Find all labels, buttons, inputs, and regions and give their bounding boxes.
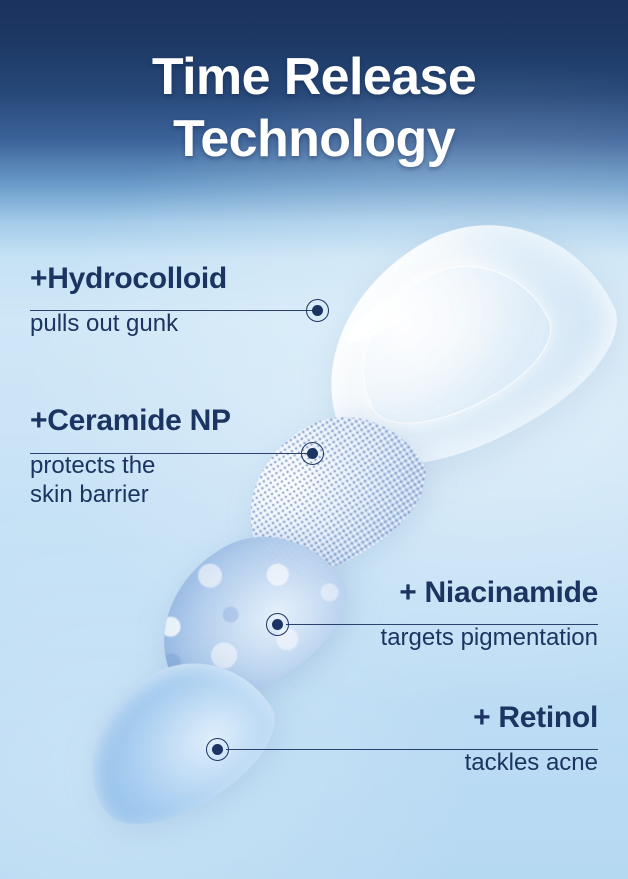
callout-niacinamide-subtitle: targets pigmentation	[298, 623, 598, 652]
callout-retinol-rule	[226, 749, 598, 750]
callout-niacinamide-rule	[286, 624, 598, 625]
callout-ceramide-np-heading: +Ceramide NP	[30, 404, 330, 438]
callout-retinol-marker	[206, 738, 229, 761]
callout-niacinamide: + Niacinamide targets pigmentation	[298, 576, 598, 652]
page-title-line-2: Technology	[0, 108, 628, 170]
callout-niacinamide-marker	[266, 613, 289, 636]
callout-ceramide-np-subtitle-line-1: protects the	[30, 451, 330, 480]
callout-hydrocolloid-subtitle: pulls out gunk	[30, 309, 330, 338]
callout-hydrocolloid-rule	[30, 310, 312, 311]
page-title: Time Release Technology	[0, 46, 628, 170]
callout-ceramide-np-subtitle-line-2: skin barrier	[30, 480, 330, 509]
callout-ceramide-np: +Ceramide NP protects the skin barrier	[30, 404, 330, 509]
callout-niacinamide-heading: + Niacinamide	[298, 576, 598, 610]
callout-ceramide-np-marker	[301, 442, 324, 465]
page-title-line-1: Time Release	[152, 48, 476, 106]
infographic-poster: Time Release Technology +Hydrocolloid pu…	[0, 0, 628, 879]
callout-retinol-subtitle: tackles acne	[298, 748, 598, 777]
callout-ceramide-np-rule	[30, 453, 312, 454]
callout-retinol: + Retinol tackles acne	[298, 701, 598, 777]
callout-hydrocolloid-heading: +Hydrocolloid	[30, 262, 330, 296]
callout-retinol-heading: + Retinol	[298, 701, 598, 735]
callout-hydrocolloid: +Hydrocolloid pulls out gunk	[30, 262, 330, 338]
callout-hydrocolloid-marker	[306, 299, 329, 322]
